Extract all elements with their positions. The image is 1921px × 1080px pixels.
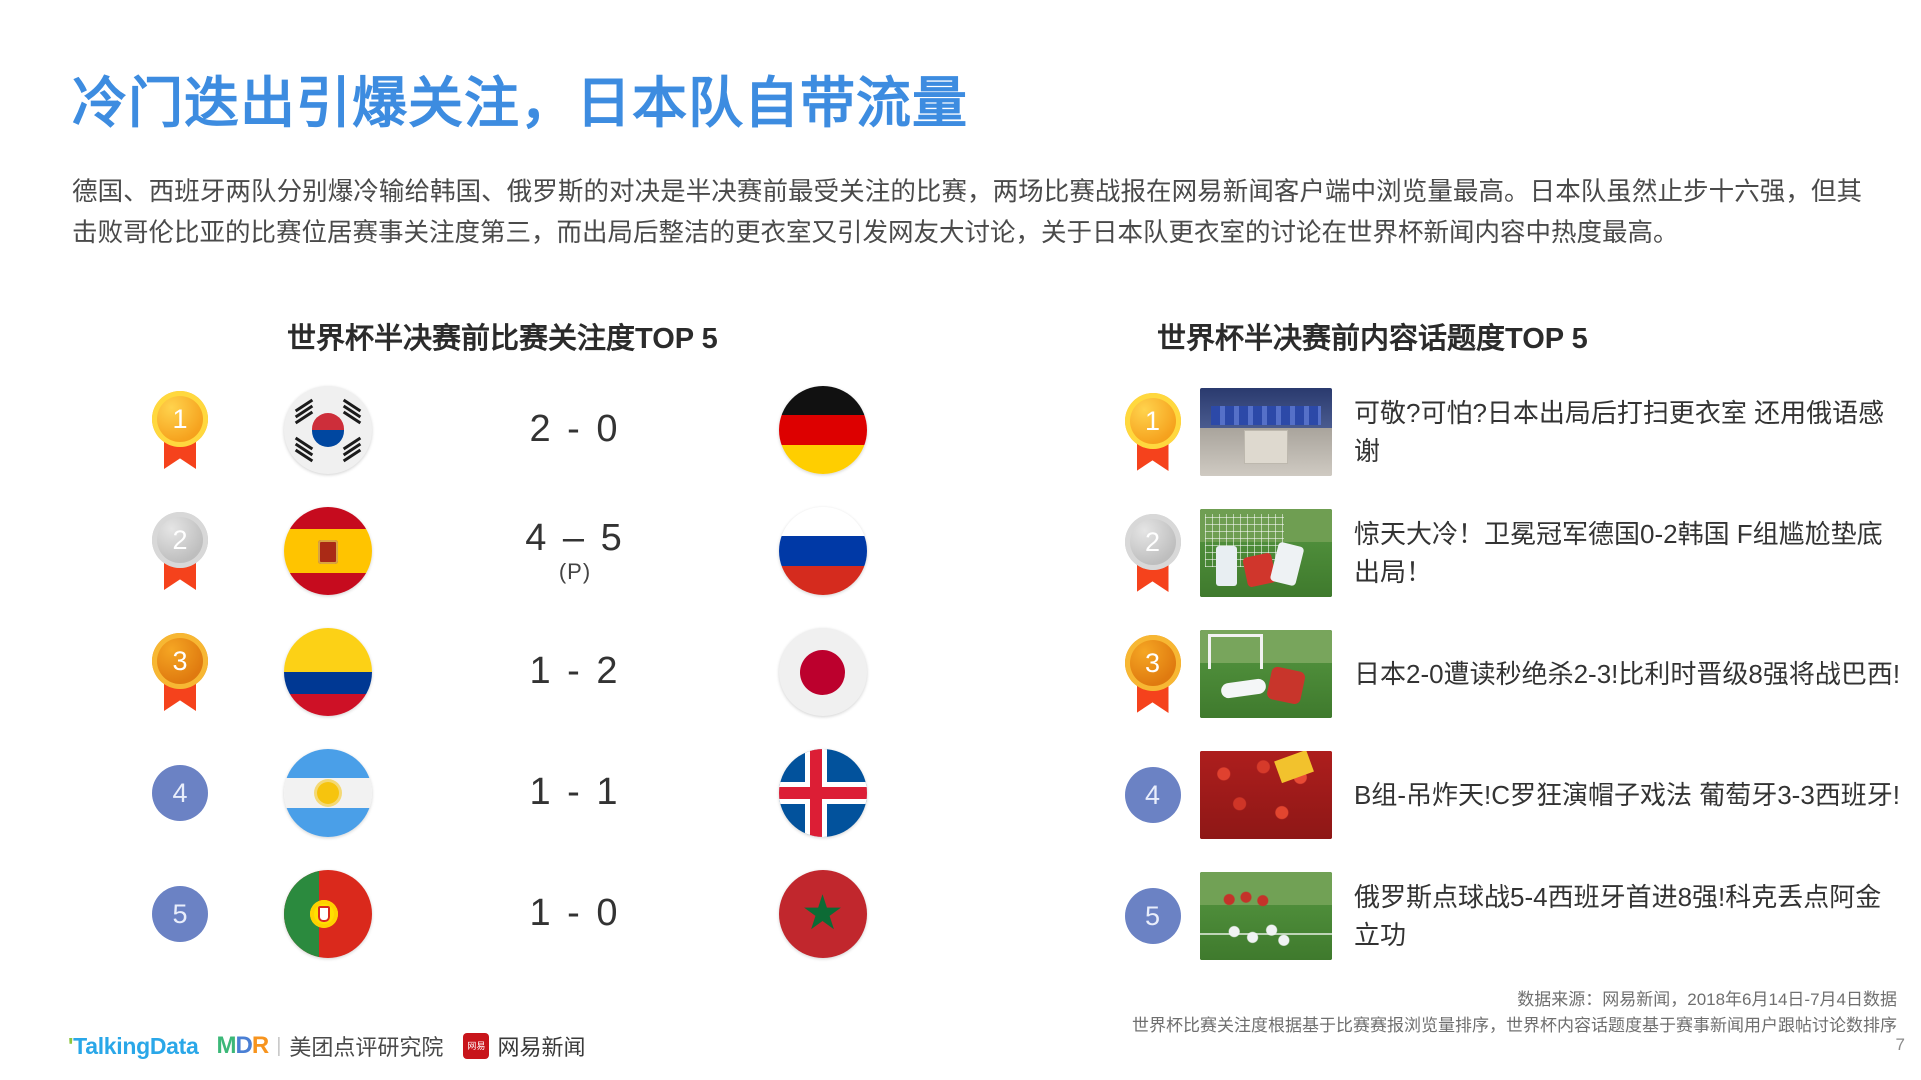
news-title[interactable]: B组-吊炸天!C罗狂演帽子戏法 葡萄牙3-3西班牙! bbox=[1354, 776, 1905, 814]
news-row[interactable]: 1可敬?可怕?日本出局后打扫更衣室 还用俄语感谢 bbox=[1105, 382, 1905, 482]
rank-medal-bronze-icon: 3 bbox=[1125, 635, 1181, 713]
flag-jp-icon bbox=[779, 628, 867, 716]
footer-logos: 'TalkingData MDR | 美团点评研究院 网易 网易新闻 bbox=[68, 1030, 585, 1062]
source-line-1: 数据来源：网易新闻，2018年6月14日-7月4日数据 bbox=[1132, 987, 1897, 1013]
news-rank-cell: 3 bbox=[1105, 635, 1200, 713]
match-rank-cell: 5 bbox=[120, 886, 240, 942]
news-thumbnail[interactable] bbox=[1200, 388, 1332, 476]
rank-badge-plain: 5 bbox=[152, 886, 208, 942]
rank-medal-bronze-icon: 3 bbox=[152, 633, 208, 711]
match-score: 2 - 0 bbox=[415, 410, 735, 450]
news-title[interactable]: 日本2-0遭读秒绝杀2-3!比利时晋级8强将战巴西! bbox=[1354, 655, 1905, 693]
flag-de-icon bbox=[779, 386, 867, 474]
mdr-logo-m: M bbox=[217, 1032, 236, 1059]
talkingdata-logo-text: TalkingData bbox=[73, 1033, 198, 1059]
score-text: 4 – 5 bbox=[525, 517, 625, 559]
flag-es-icon bbox=[284, 507, 372, 595]
flag-ma-icon: ★ bbox=[779, 870, 867, 958]
page-title: 冷门迭出引爆关注，日本队自带流量 bbox=[72, 58, 968, 138]
flag-co-icon bbox=[284, 628, 372, 716]
flag-kr-icon bbox=[284, 386, 372, 474]
source-line-2: 世界杯比赛关注度根据基于比赛赛报浏览量排序，世界杯内容话题度基于赛事新闻用户跟帖… bbox=[1132, 1013, 1897, 1039]
lede-paragraph: 德国、西班牙两队分别爆冷输给韩国、俄罗斯的对决是半决赛前最受关注的比赛，两场比赛… bbox=[72, 172, 1862, 254]
news-ranking-list: 1可敬?可怕?日本出局后打扫更衣室 还用俄语感谢2惊天大冷！卫冕冠军德国0-2韩… bbox=[1105, 382, 1905, 987]
away-team-flag-cell bbox=[735, 386, 910, 474]
news-row[interactable]: 4B组-吊炸天!C罗狂演帽子戏法 葡萄牙3-3西班牙! bbox=[1105, 745, 1905, 845]
match-row: 24 – 5(P) bbox=[120, 501, 910, 601]
rank-badge-plain: 4 bbox=[1125, 767, 1181, 823]
logo-divider: | bbox=[276, 1035, 281, 1058]
home-team-flag-cell bbox=[240, 507, 415, 595]
rank-badge-plain: 5 bbox=[1125, 888, 1181, 944]
flag-is-icon bbox=[779, 749, 867, 837]
away-team-flag-cell: ★ bbox=[735, 870, 910, 958]
news-row[interactable]: 2惊天大冷！卫冕冠军德国0-2韩国 F组尴尬垫底出局！ bbox=[1105, 503, 1905, 603]
news-row[interactable]: 5俄罗斯点球战5-4西班牙首进8强!科克丢点阿金立功 bbox=[1105, 866, 1905, 966]
match-row: 31 - 2 bbox=[120, 622, 910, 722]
score-text: 1 - 2 bbox=[529, 650, 620, 692]
section-title-topics: 世界杯半决赛前内容话题度TOP 5 bbox=[1157, 315, 1588, 357]
rank-medal-silver-icon: 2 bbox=[1125, 514, 1181, 592]
away-team-flag-cell bbox=[735, 507, 910, 595]
news-title[interactable]: 俄罗斯点球战5-4西班牙首进8强!科克丢点阿金立功 bbox=[1354, 878, 1905, 954]
home-team-flag-cell bbox=[240, 628, 415, 716]
netease-mark-icon: 网易 bbox=[463, 1033, 489, 1059]
match-row: 51 - 0★ bbox=[120, 864, 910, 964]
match-rank-cell: 1 bbox=[120, 391, 240, 469]
rank-badge-plain: 4 bbox=[152, 765, 208, 821]
home-team-flag-cell bbox=[240, 749, 415, 837]
meituan-research-logo: 美团点评研究院 bbox=[289, 1030, 443, 1062]
score-note: (P) bbox=[415, 560, 735, 583]
score-text: 1 - 0 bbox=[529, 892, 620, 934]
flag-pt-icon bbox=[284, 870, 372, 958]
match-score: 1 - 0 bbox=[415, 894, 735, 934]
news-thumbnail[interactable] bbox=[1200, 509, 1332, 597]
home-team-flag-cell bbox=[240, 870, 415, 958]
rank-medal-silver-icon: 2 bbox=[152, 512, 208, 590]
flag-ru-icon bbox=[779, 507, 867, 595]
match-score: 4 – 5(P) bbox=[415, 519, 735, 584]
news-rank-cell: 2 bbox=[1105, 514, 1200, 592]
news-title[interactable]: 惊天大冷！卫冕冠军德国0-2韩国 F组尴尬垫底出局！ bbox=[1354, 515, 1905, 591]
mdr-logo-r: R bbox=[252, 1032, 268, 1059]
page-number: 7 bbox=[1896, 1035, 1905, 1055]
slide: 冷门迭出引爆关注，日本队自带流量 德国、西班牙两队分别爆冷输给韩国、俄罗斯的对决… bbox=[0, 0, 1921, 1080]
match-score: 1 - 1 bbox=[415, 773, 735, 813]
section-title-matches: 世界杯半决赛前比赛关注度TOP 5 bbox=[287, 315, 718, 357]
news-rank-cell: 1 bbox=[1105, 393, 1200, 471]
mdr-logo: MDR bbox=[217, 1032, 269, 1060]
netease-news-text: 网易新闻 bbox=[497, 1030, 585, 1062]
flag-ar-icon bbox=[284, 749, 372, 837]
mdr-logo-d: D bbox=[236, 1032, 252, 1059]
match-rank-cell: 4 bbox=[120, 765, 240, 821]
rank-medal-gold-icon: 1 bbox=[1125, 393, 1181, 471]
away-team-flag-cell bbox=[735, 628, 910, 716]
score-text: 1 - 1 bbox=[529, 771, 620, 813]
news-thumbnail[interactable] bbox=[1200, 630, 1332, 718]
home-team-flag-cell bbox=[240, 386, 415, 474]
match-row: 12 - 0 bbox=[120, 380, 910, 480]
match-rank-cell: 2 bbox=[120, 512, 240, 590]
source-note: 数据来源：网易新闻，2018年6月14日-7月4日数据 世界杯比赛关注度根据基于… bbox=[1132, 987, 1897, 1039]
news-row[interactable]: 3日本2-0遭读秒绝杀2-3!比利时晋级8强将战巴西! bbox=[1105, 624, 1905, 724]
netease-news-logo: 网易 网易新闻 bbox=[463, 1030, 585, 1062]
rank-medal-gold-icon: 1 bbox=[152, 391, 208, 469]
score-text: 2 - 0 bbox=[529, 408, 620, 450]
away-team-flag-cell bbox=[735, 749, 910, 837]
match-rank-cell: 3 bbox=[120, 633, 240, 711]
news-rank-cell: 5 bbox=[1105, 888, 1200, 944]
match-ranking-list: 12 - 024 – 5(P)31 - 241 - 151 - 0★ bbox=[120, 380, 910, 985]
news-thumbnail[interactable] bbox=[1200, 872, 1332, 960]
match-score: 1 - 2 bbox=[415, 652, 735, 692]
news-thumbnail[interactable] bbox=[1200, 751, 1332, 839]
news-title[interactable]: 可敬?可怕?日本出局后打扫更衣室 还用俄语感谢 bbox=[1354, 394, 1905, 470]
talkingdata-logo: 'TalkingData bbox=[68, 1033, 199, 1060]
match-row: 41 - 1 bbox=[120, 743, 910, 843]
news-rank-cell: 4 bbox=[1105, 767, 1200, 823]
